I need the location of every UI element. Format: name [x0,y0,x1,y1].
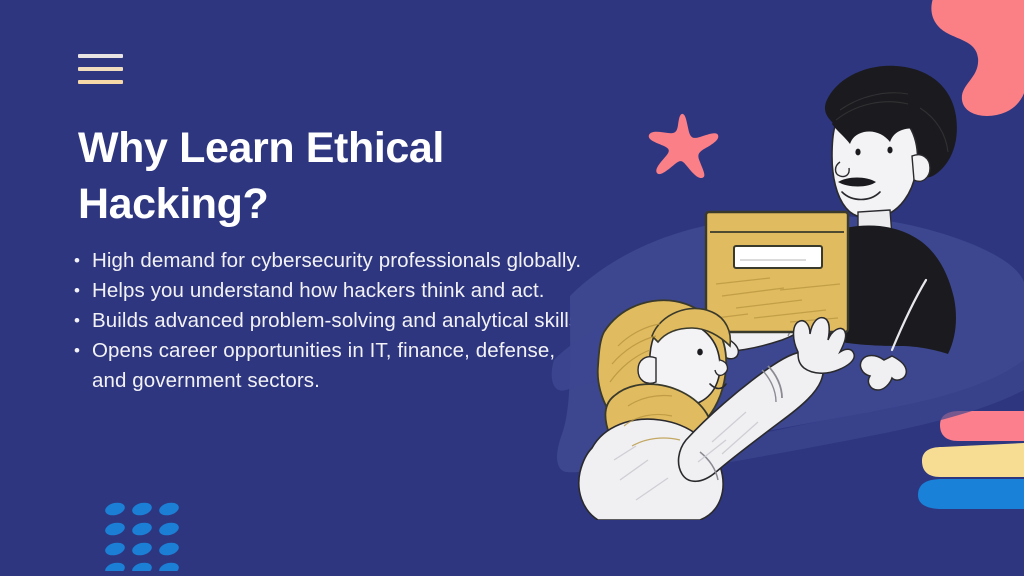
list-item: Opens career opportunities in IT, financ… [72,336,592,396]
slide-canvas: Why Learn Ethical Hacking? High demand f… [0,0,1024,576]
list-item: Helps you understand how hackers think a… [72,276,592,306]
page-title: Why Learn Ethical Hacking? [78,120,548,232]
hamburger-line-1 [78,54,123,58]
benefits-list: High demand for cybersecurity profession… [72,246,592,396]
two-people-handing-box-illustration [540,60,1024,520]
blue-dot-grid [104,499,180,576]
cardboard-box [706,212,848,332]
hamburger-line-2 [78,67,123,71]
list-item: Builds advanced problem-solving and anal… [72,306,592,336]
list-item: High demand for cybersecurity profession… [72,246,592,276]
hamburger-menu-icon[interactable] [78,54,123,84]
hamburger-line-3 [78,80,123,84]
